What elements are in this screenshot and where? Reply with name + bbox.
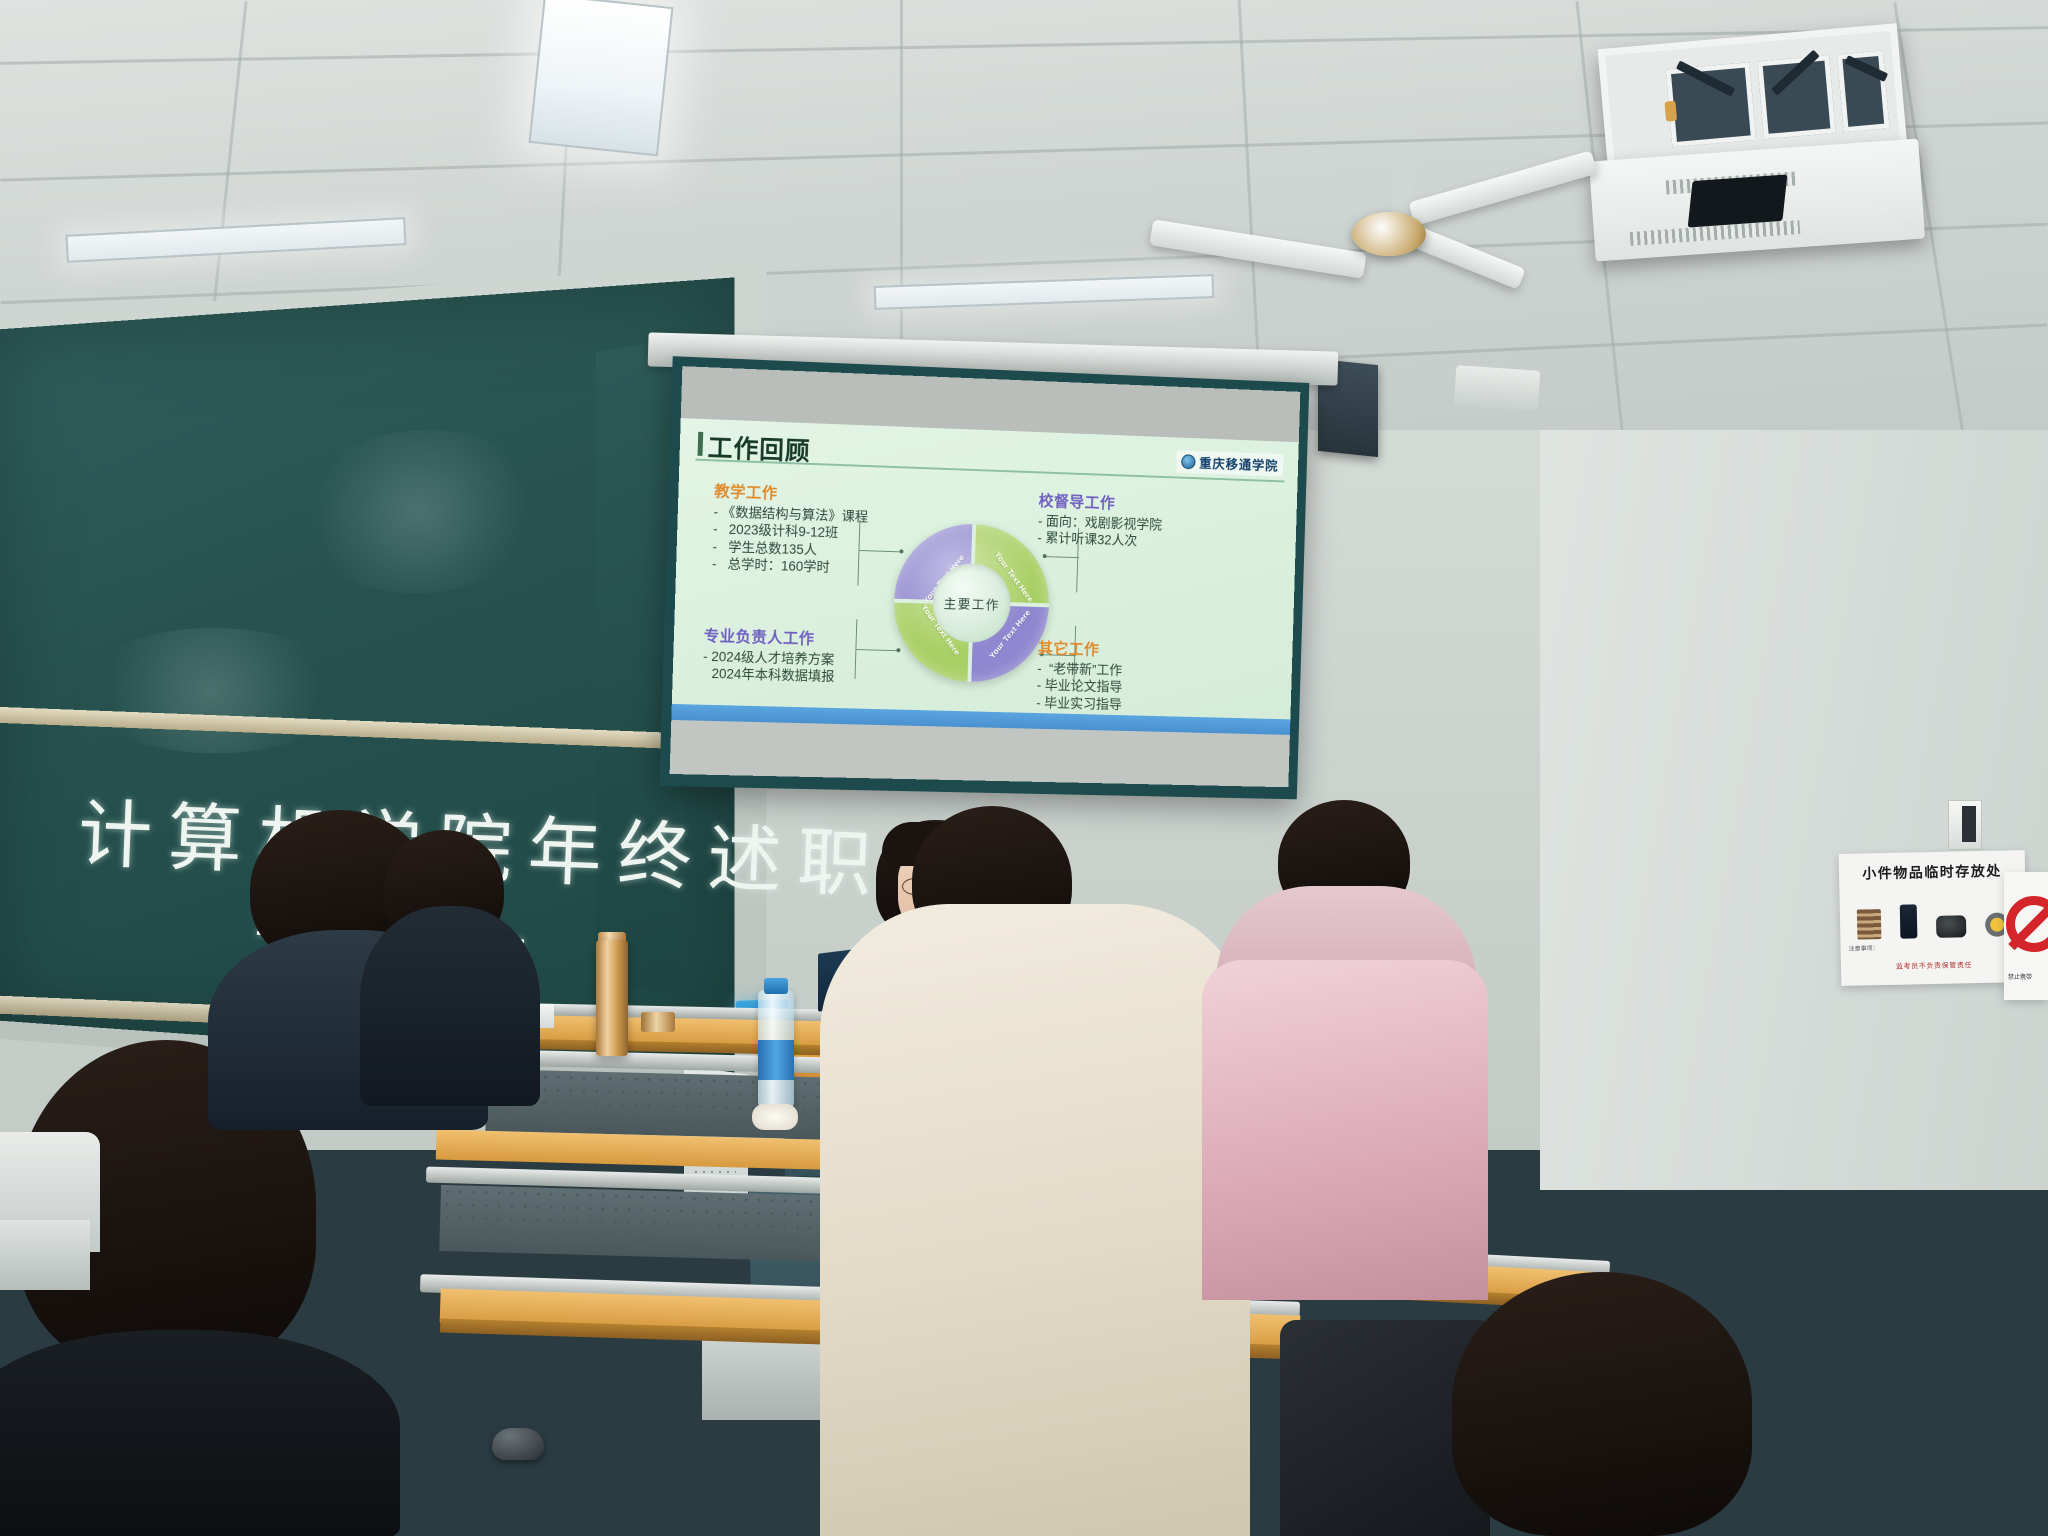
poster-note: 注意事项： [1849,940,2019,953]
chair-seat [0,1220,90,1290]
slide-block-major-lead: 专业负责人工作 - 2024级人才培养方案 2024年本科数据填报 [702,624,836,686]
fan-hub [1352,212,1426,256]
poster-footer: 监考员不负责保管责任 [1849,959,2019,973]
block-item: - 毕业实习指导 [1036,694,1122,713]
donut-diagram: Your Text Here Your Text Here Your Text … [892,522,1052,684]
emblem-icon [1181,454,1196,469]
computer-mouse [492,1428,544,1460]
projector-lens [1688,174,1788,227]
block-item: 2024年本科数据填报 [702,665,834,686]
title-accent-bar [698,432,704,456]
audience-head [1452,1272,1752,1536]
poster-prohibition-caption: 禁止携带 [2008,972,2032,981]
wall-fixture [1454,365,1541,411]
ceiling-light [529,0,674,156]
block-heading: 校督导工作 [1038,489,1163,515]
poster-title: 小件物品临时存放处 [1847,860,2017,884]
poster-icon-row [1848,892,2019,940]
classroom-photo: 计算机学院年终述职 二〇二四年 12 24 工作回顾 重庆移通学院 [0,0,2048,1536]
tissue [752,1104,798,1130]
audience-body [0,1330,400,1536]
bottle-cap [764,978,788,994]
poster-storage-notice: 小件物品临时存放处 注意事项： 监考员不负责保管责任 [1839,850,2028,986]
phone-icon [1900,904,1918,938]
projection-screen: 工作回顾 重庆移通学院 [670,366,1301,787]
slide-block-supervision: 校督导工作 - 面向：戏剧影视学院 - 累计听课32人次 [1037,489,1163,551]
audience-body [820,904,1250,1536]
books-icon [1857,909,1882,939]
block-heading: 教学工作 [714,479,869,506]
audience-body [360,906,540,1106]
block-item: - 总学时：160学时 [712,555,867,577]
wall-box-inner [1962,806,1976,842]
slide-block-other: 其它工作 - “老带新”工作 - 毕业论文指导 - 毕业实习指导 [1036,636,1124,713]
logo-text: 重庆移通学院 [1199,453,1279,474]
thermos-lid [641,1012,675,1032]
university-logo: 重庆移通学院 [1176,450,1283,476]
bottle-label [758,1040,794,1080]
slide-block-teaching: 教学工作 - 《数据结构与算法》课程 - 2023级计科9-12班 - 学生总数… [712,479,869,577]
thermos-flask [596,940,628,1056]
block-item: - 毕业论文指导 [1037,677,1123,696]
donut-center-label: 主要工作 [943,593,1000,613]
block-heading: 其它工作 [1038,636,1124,660]
block-heading: 专业负责人工作 [704,624,837,650]
presentation-slide: 工作回顾 重庆移通学院 [671,418,1298,735]
audience-body [1202,960,1488,1300]
bag-icon [1936,915,1966,938]
